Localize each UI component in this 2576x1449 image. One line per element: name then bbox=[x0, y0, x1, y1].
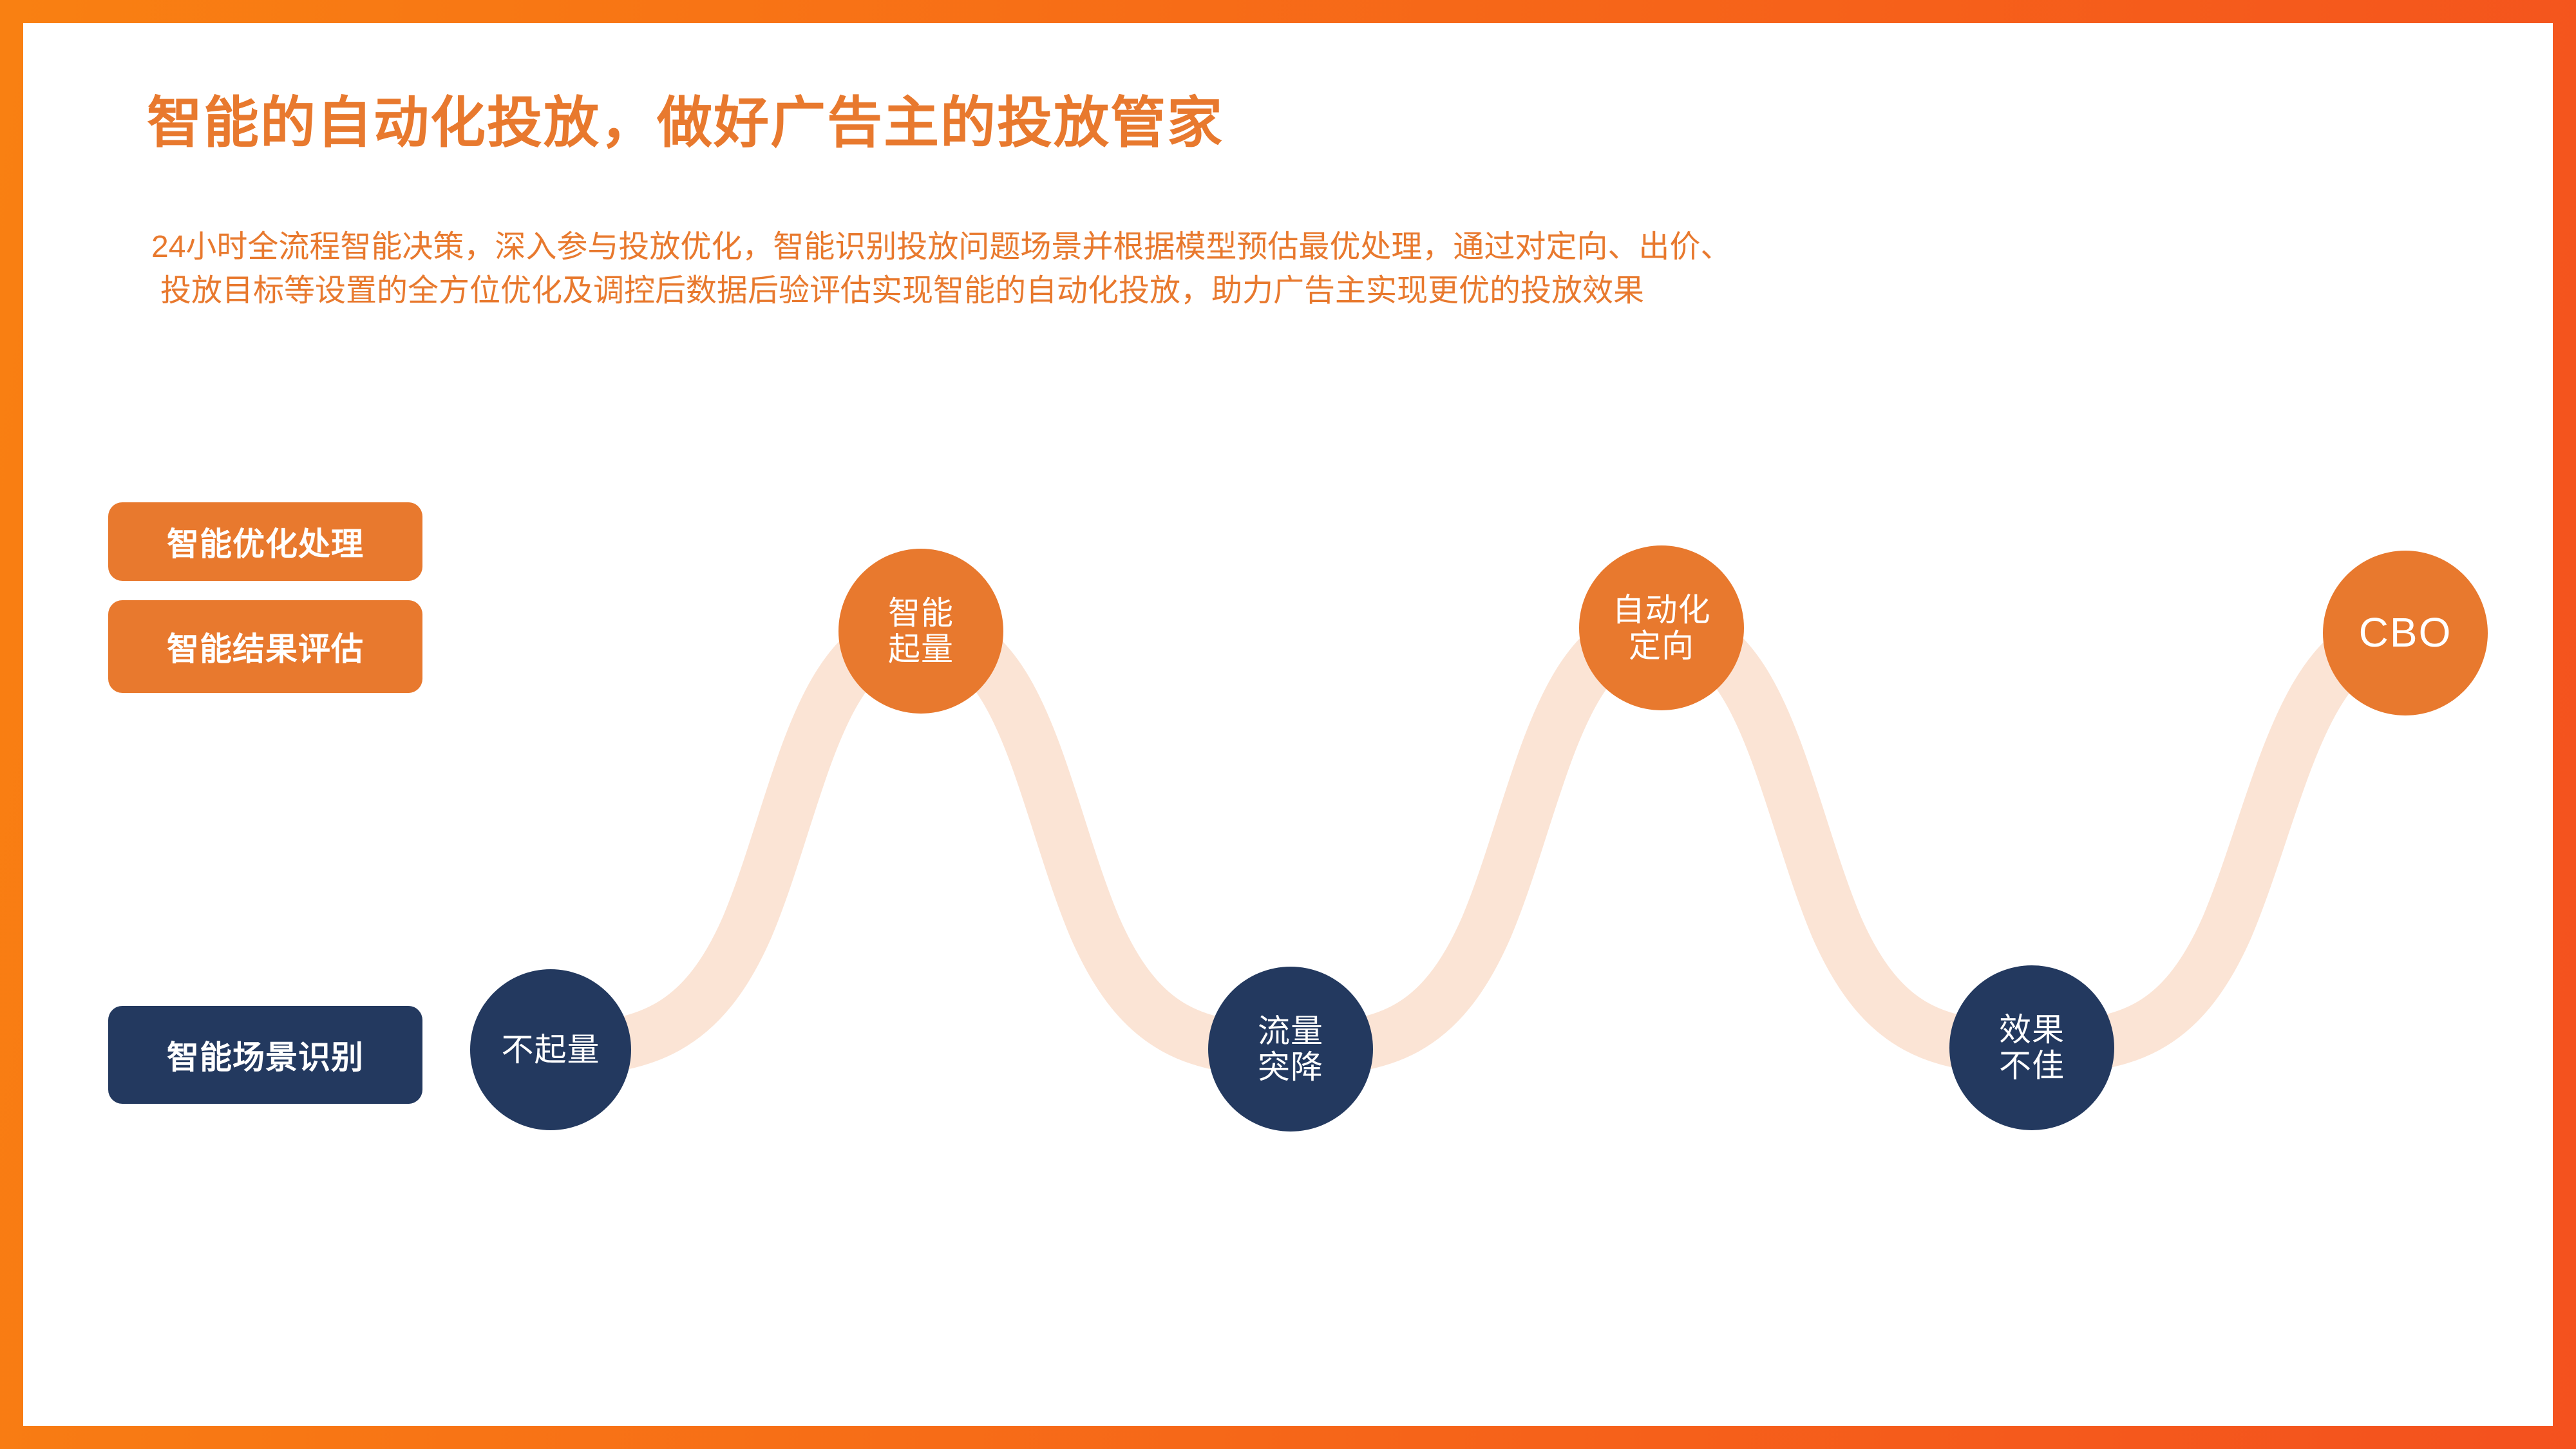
flow-node-auto-targeting-line-1: 自动化 bbox=[1613, 592, 1711, 628]
category-label-scene-text: 智能场景识别 bbox=[167, 1032, 364, 1078]
flow-node-poor-performance[interactable]: 效果 不佳 bbox=[1949, 965, 2114, 1130]
flow-node-poor-performance-line-2: 不佳 bbox=[1999, 1048, 2065, 1084]
flow-node-traffic-drop[interactable]: 流量 突降 bbox=[1208, 967, 1373, 1132]
flow-node-poor-performance-line-1: 效果 bbox=[1999, 1012, 2065, 1048]
flow-node-smart-volume-line-1: 智能 bbox=[888, 595, 954, 631]
flow-node-no-volume[interactable]: 不起量 bbox=[470, 969, 631, 1130]
flow-node-auto-targeting-line-2: 定向 bbox=[1629, 628, 1694, 664]
category-label-evaluate-text: 智能结果评估 bbox=[167, 623, 364, 670]
flow-node-auto-targeting[interactable]: 自动化 定向 bbox=[1579, 545, 1744, 710]
flow-node-traffic-drop-line-1: 流量 bbox=[1258, 1013, 1323, 1049]
slide-content: 智能的自动化投放，做好广告主的投放管家 24小时全流程智能决策，深入参与投放优化… bbox=[0, 0, 2576, 1449]
flow-node-smart-volume-line-2: 起量 bbox=[888, 631, 954, 667]
category-label-optimize[interactable]: 智能优化处理 bbox=[108, 502, 422, 581]
category-label-evaluate[interactable]: 智能结果评估 bbox=[108, 600, 422, 693]
category-label-scene[interactable]: 智能场景识别 bbox=[108, 1006, 422, 1104]
flow-diagram: 智能优化处理 智能结果评估 智能场景识别 不起量 智能 起量 流量 突降 自动化 bbox=[0, 0, 2576, 1449]
flow-node-traffic-drop-line-2: 突降 bbox=[1258, 1049, 1323, 1085]
flow-node-cbo-line-1: CBO bbox=[2359, 610, 2452, 656]
flow-node-smart-volume[interactable]: 智能 起量 bbox=[838, 549, 1003, 714]
slide-canvas: 智能的自动化投放，做好广告主的投放管家 24小时全流程智能决策，深入参与投放优化… bbox=[0, 0, 2576, 1449]
wave-connector-path bbox=[0, 0, 2576, 1449]
category-label-optimize-text: 智能优化处理 bbox=[167, 518, 364, 565]
flow-node-no-volume-line-1: 不起量 bbox=[502, 1032, 600, 1068]
flow-node-cbo[interactable]: CBO bbox=[2323, 551, 2488, 715]
